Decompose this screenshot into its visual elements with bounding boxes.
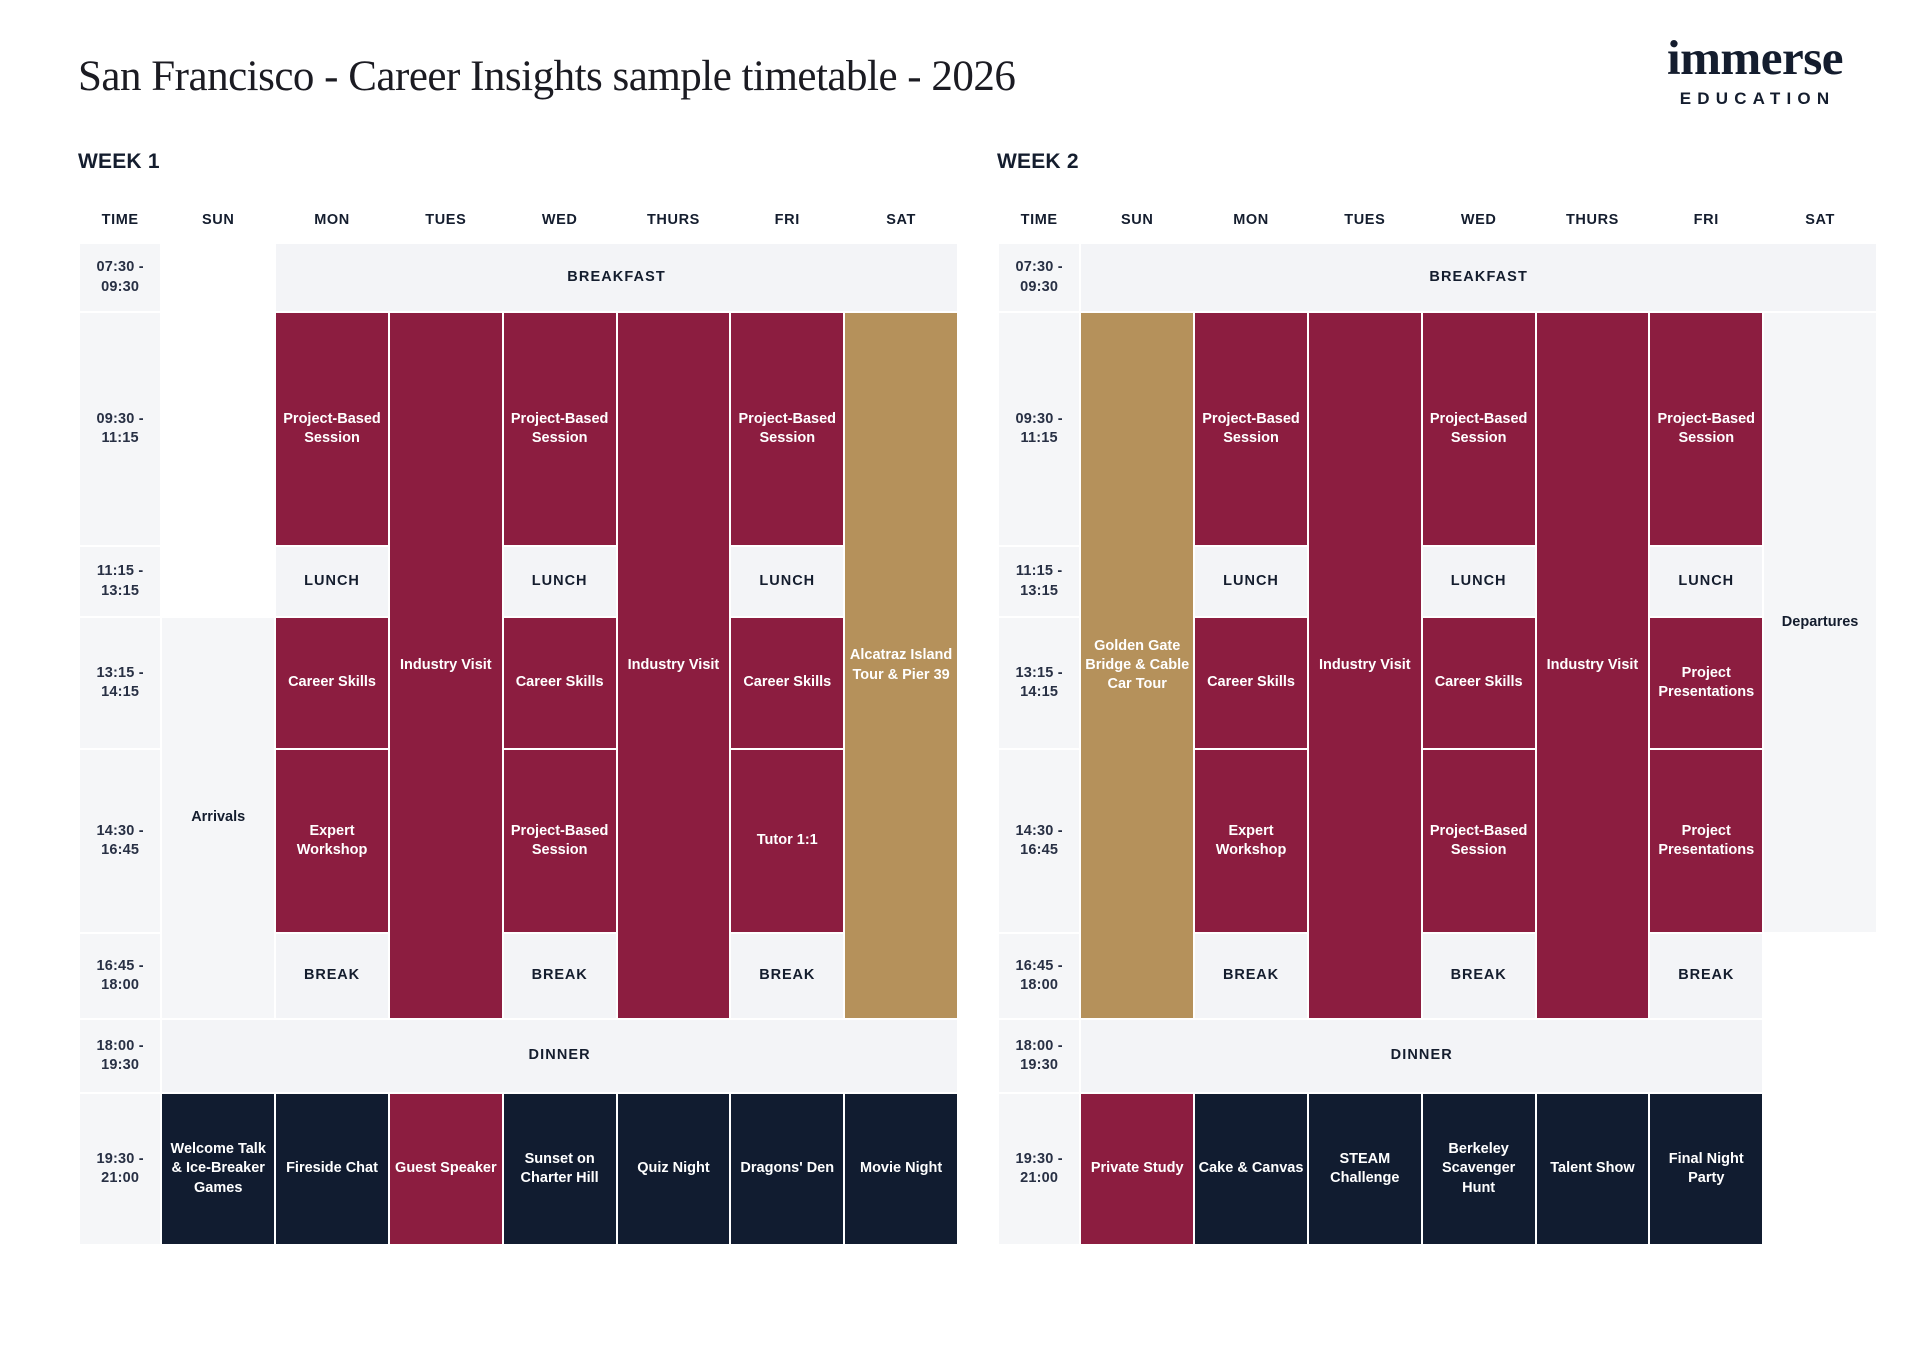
timetable-page: San Francisco - Career Insights sample t… <box>0 0 1920 1357</box>
time-start: 09:30 - <box>1015 411 1062 427</box>
break-fri[interactable]: BREAK <box>1650 934 1762 1018</box>
week-1-block: WEEK 1 TIME SUN MON TUES WED THURS FRI <box>78 150 959 1246</box>
time-start: 18:00 - <box>96 1038 143 1054</box>
time-label: 18:00 - 19:30 <box>999 1020 1079 1092</box>
col-header-sun: SUN <box>162 212 274 242</box>
lunch-wed[interactable]: LUNCH <box>1423 547 1535 616</box>
session-mon-late-pm[interactable]: Expert Workshop <box>1195 750 1307 932</box>
time-end: 13:15 <box>1020 583 1058 599</box>
time-label: 16:45 - 18:00 <box>999 934 1079 1018</box>
session-fri-late-pm[interactable]: Tutor 1:1 <box>731 750 843 932</box>
table-row: 09:30 - 11:15 Project-Based Session Indu… <box>80 313 957 545</box>
logo-wordmark: immerse <box>1620 34 1890 82</box>
time-start: 16:45 - <box>1015 958 1062 974</box>
week-2-label: WEEK 2 <box>997 150 1878 174</box>
session-fri-early-pm[interactable]: Career Skills <box>731 618 843 748</box>
time-label: 09:30 - 11:15 <box>999 313 1079 545</box>
time-start: 19:30 - <box>1015 1151 1062 1167</box>
immerse-education-logo: immerse EDUCATION <box>1620 34 1890 109</box>
col-header-time: TIME <box>80 212 160 242</box>
table-row: 07:30 - 09:30 BREAKFAST <box>999 244 1876 311</box>
trip-sat-allday[interactable]: Alcatraz Island Tour & Pier 39 <box>845 313 957 1018</box>
arrivals-cell[interactable]: Arrivals <box>162 618 274 1018</box>
col-header-tues: TUES <box>390 212 502 242</box>
page-title: San Francisco - Career Insights sample t… <box>78 52 1880 101</box>
time-label: 14:30 - 16:45 <box>80 750 160 932</box>
time-label: 11:15 - 13:15 <box>999 547 1079 616</box>
time-end: 16:45 <box>101 842 139 858</box>
break-fri[interactable]: BREAK <box>731 934 843 1018</box>
session-mon-morning[interactable]: Project-Based Session <box>1195 313 1307 545</box>
time-end: 09:30 <box>101 279 139 295</box>
session-tues-allday[interactable]: Industry Visit <box>390 313 502 1018</box>
week-2-block: WEEK 2 TIME SUN MON TUES WED THURS FRI <box>997 150 1878 1246</box>
break-wed[interactable]: BREAK <box>504 934 616 1018</box>
table-row: 18:00 - 19:30 DINNER <box>80 1020 957 1092</box>
week-1-timetable: TIME SUN MON TUES WED THURS FRI SAT 07 <box>78 210 959 1246</box>
time-end: 18:00 <box>1020 977 1058 993</box>
session-fri-morning[interactable]: Project-Based Session <box>731 313 843 545</box>
session-wed-morning[interactable]: Project-Based Session <box>1423 313 1535 545</box>
time-label: 07:30 - 09:30 <box>999 244 1079 311</box>
col-header-mon: MON <box>276 212 388 242</box>
session-wed-early-pm[interactable]: Career Skills <box>504 618 616 748</box>
table-row: 13:15 - 14:15 Arrivals Career Skills Car… <box>80 618 957 748</box>
col-header-time: TIME <box>999 212 1079 242</box>
empty-cell <box>162 244 274 311</box>
session-tues-allday[interactable]: Industry Visit <box>1309 313 1421 1018</box>
evening-thurs[interactable]: Talent Show <box>1537 1094 1649 1244</box>
col-header-fri: FRI <box>731 212 843 242</box>
time-label: 09:30 - 11:15 <box>80 313 160 545</box>
table-row: 11:15 - 13:15 LUNCH LUNCH LUNCH <box>80 547 957 616</box>
time-start: 13:15 - <box>1015 665 1062 681</box>
time-end: 13:15 <box>101 583 139 599</box>
time-end: 11:15 <box>1021 430 1058 446</box>
empty-cell <box>162 313 274 545</box>
weeks-container: WEEK 1 TIME SUN MON TUES WED THURS FRI <box>78 150 1878 1246</box>
time-start: 07:30 - <box>96 259 143 275</box>
table-row: 19:30 - 21:00 Welcome Talk & Ice-Breaker… <box>80 1094 957 1244</box>
time-label: 11:15 - 13:15 <box>80 547 160 616</box>
time-end: 14:15 <box>1020 684 1058 700</box>
departures-cell[interactable]: Departures <box>1764 313 1876 932</box>
evening-sun[interactable]: Private Study <box>1081 1094 1193 1244</box>
col-header-sun: SUN <box>1081 212 1193 242</box>
table-row: 19:30 - 21:00 Private Study Cake & Canva… <box>999 1094 1876 1244</box>
evening-mon[interactable]: Cake & Canvas <box>1195 1094 1307 1244</box>
time-end: 09:30 <box>1020 279 1058 295</box>
session-wed-early-pm[interactable]: Career Skills <box>1423 618 1535 748</box>
trip-sun-allday[interactable]: Golden Gate Bridge & Cable Car Tour <box>1081 313 1193 1018</box>
time-start: 13:15 - <box>96 665 143 681</box>
empty-cell <box>162 547 274 616</box>
table-row: 07:30 - 09:30 BREAKFAST <box>80 244 957 311</box>
col-header-thurs: THURS <box>618 212 730 242</box>
time-end: 21:00 <box>101 1170 139 1186</box>
empty-cell <box>1764 934 1876 1018</box>
session-thurs-allday[interactable]: Industry Visit <box>618 313 730 1018</box>
breakfast-cell[interactable]: BREAKFAST <box>276 244 957 311</box>
time-start: 11:15 - <box>97 563 144 579</box>
session-wed-morning[interactable]: Project-Based Session <box>504 313 616 545</box>
evening-sun[interactable]: Welcome Talk & Ice-Breaker Games <box>162 1094 274 1244</box>
col-header-mon: MON <box>1195 212 1307 242</box>
time-end: 16:45 <box>1020 842 1058 858</box>
session-wed-late-pm[interactable]: Project-Based Session <box>1423 750 1535 932</box>
time-start: 11:15 - <box>1016 563 1063 579</box>
lunch-wed[interactable]: LUNCH <box>504 547 616 616</box>
col-header-wed: WED <box>504 212 616 242</box>
evening-sat[interactable]: Movie Night <box>845 1094 957 1244</box>
time-start: 16:45 - <box>96 958 143 974</box>
time-end: 14:15 <box>101 684 139 700</box>
evening-wed[interactable]: Berkeley Scavenger Hunt <box>1423 1094 1535 1244</box>
time-label: 14:30 - 16:45 <box>999 750 1079 932</box>
session-fri-late-pm[interactable]: Project Presentations <box>1650 750 1762 932</box>
evening-mon[interactable]: Fireside Chat <box>276 1094 388 1244</box>
time-end: 18:00 <box>101 977 139 993</box>
session-mon-early-pm[interactable]: Career Skills <box>1195 618 1307 748</box>
table-row: 09:30 - 11:15 Golden Gate Bridge & Cable… <box>999 313 1876 545</box>
time-end: 11:15 <box>102 430 139 446</box>
time-label: 16:45 - 18:00 <box>80 934 160 1018</box>
col-header-sat: SAT <box>1764 212 1876 242</box>
logo-subtitle: EDUCATION <box>1625 89 1890 109</box>
lunch-fri[interactable]: LUNCH <box>731 547 843 616</box>
time-end: 21:00 <box>1020 1170 1058 1186</box>
time-start: 18:00 - <box>1015 1038 1062 1054</box>
col-header-sat: SAT <box>845 212 957 242</box>
time-start: 14:30 - <box>1015 823 1062 839</box>
session-mon-morning[interactable]: Project-Based Session <box>276 313 388 545</box>
empty-cell <box>1764 1094 1876 1244</box>
evening-fri[interactable]: Final Night Party <box>1650 1094 1762 1244</box>
evening-wed[interactable]: Sunset on Charter Hill <box>504 1094 616 1244</box>
evening-thurs[interactable]: Quiz Night <box>618 1094 730 1244</box>
week-1-header-row: TIME SUN MON TUES WED THURS FRI SAT <box>80 212 957 242</box>
session-fri-morning[interactable]: Project-Based Session <box>1650 313 1762 545</box>
session-fri-early-pm[interactable]: Project Presentations <box>1650 618 1762 748</box>
time-start: 07:30 - <box>1015 259 1062 275</box>
col-header-tues: TUES <box>1309 212 1421 242</box>
lunch-fri[interactable]: LUNCH <box>1650 547 1762 616</box>
time-start: 19:30 - <box>96 1151 143 1167</box>
empty-cell <box>1764 1020 1876 1092</box>
session-mon-late-pm[interactable]: Expert Workshop <box>276 750 388 932</box>
lunch-mon[interactable]: LUNCH <box>1195 547 1307 616</box>
time-start: 09:30 - <box>96 411 143 427</box>
session-thurs-allday[interactable]: Industry Visit <box>1537 313 1649 1018</box>
break-mon[interactable]: BREAK <box>1195 934 1307 1018</box>
breakfast-cell[interactable]: BREAKFAST <box>1081 244 1876 311</box>
session-wed-late-pm[interactable]: Project-Based Session <box>504 750 616 932</box>
dinner-cell[interactable]: DINNER <box>1081 1020 1762 1092</box>
evening-tues[interactable]: Guest Speaker <box>390 1094 502 1244</box>
time-end: 19:30 <box>101 1057 139 1073</box>
col-header-fri: FRI <box>1650 212 1762 242</box>
week-1-label: WEEK 1 <box>78 150 959 174</box>
table-row: 18:00 - 19:30 DINNER <box>999 1020 1876 1092</box>
time-label: 18:00 - 19:30 <box>80 1020 160 1092</box>
week-2-timetable: TIME SUN MON TUES WED THURS FRI SAT 07 <box>997 210 1878 1246</box>
break-wed[interactable]: BREAK <box>1423 934 1535 1018</box>
time-label: 13:15 - 14:15 <box>80 618 160 748</box>
time-start: 14:30 - <box>96 823 143 839</box>
time-end: 19:30 <box>1020 1057 1058 1073</box>
evening-fri[interactable]: Dragons' Den <box>731 1094 843 1244</box>
dinner-cell[interactable]: DINNER <box>162 1020 957 1092</box>
time-label: 19:30 - 21:00 <box>80 1094 160 1244</box>
page-header: San Francisco - Career Insights sample t… <box>78 52 1880 122</box>
week-2-header-row: TIME SUN MON TUES WED THURS FRI SAT <box>999 212 1876 242</box>
evening-tues[interactable]: STEAM Challenge <box>1309 1094 1421 1244</box>
col-header-wed: WED <box>1423 212 1535 242</box>
time-label: 19:30 - 21:00 <box>999 1094 1079 1244</box>
lunch-mon[interactable]: LUNCH <box>276 547 388 616</box>
break-mon[interactable]: BREAK <box>276 934 388 1018</box>
time-label: 13:15 - 14:15 <box>999 618 1079 748</box>
col-header-thurs: THURS <box>1537 212 1649 242</box>
session-mon-early-pm[interactable]: Career Skills <box>276 618 388 748</box>
time-label: 07:30 - 09:30 <box>80 244 160 311</box>
